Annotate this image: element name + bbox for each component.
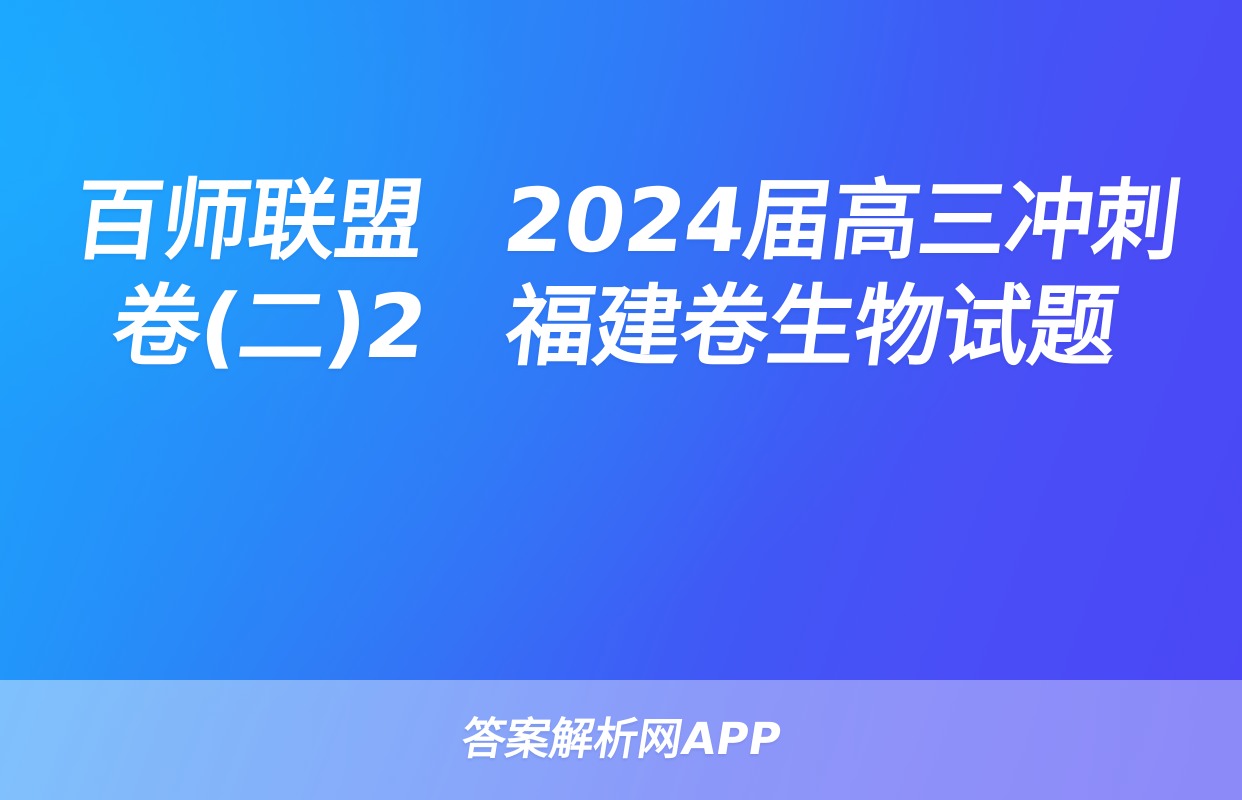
app-promo-label: 答案解析网APP [458, 718, 784, 762]
poster-canvas: 百师联盟 2024届高三冲刺卷(二)2 福建卷生物试题 答案解析网APP [0, 0, 1242, 800]
page-title: 百师联盟 2024届高三冲刺卷(二)2 福建卷生物试题 [0, 168, 1242, 380]
app-promo-banner: 答案解析网APP [0, 680, 1242, 800]
page-title-segment-1: 百师联盟 [69, 169, 430, 272]
page-title-segment-3: 福建卷生物试题 [501, 275, 1123, 378]
